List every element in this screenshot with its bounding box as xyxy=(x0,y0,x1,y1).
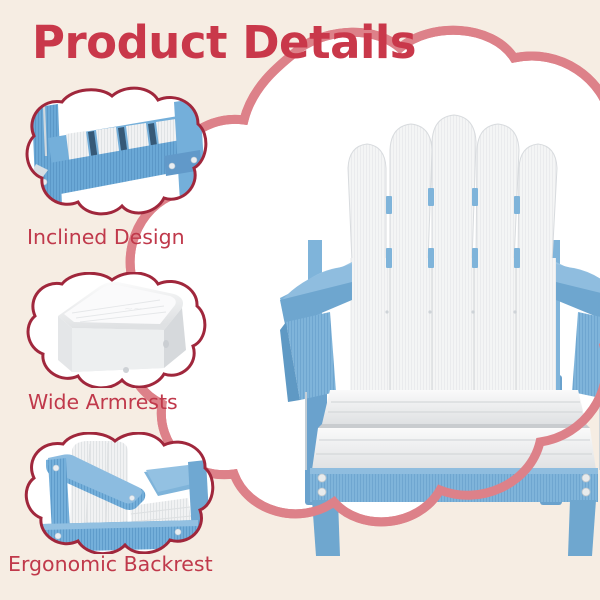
infographic-canvas: Product Details xyxy=(0,0,600,600)
feature-label-inclined-design: Inclined Design xyxy=(27,225,185,249)
feature-label-ergonomic-backrest: Ergonomic Backrest xyxy=(8,552,213,576)
page-title: Product Details xyxy=(32,16,416,69)
feature-image-ergonomic-backrest xyxy=(12,432,218,554)
feature-bubble-ergonomic-backrest xyxy=(12,432,218,554)
feature-bubble-wide-armrests: ~~ xyxy=(14,272,210,388)
feature-label-wide-armrests: Wide Armrests xyxy=(28,390,178,414)
feature-bubble-inclined-design xyxy=(14,86,210,220)
feature-image-wide-armrests: ~~ xyxy=(14,272,210,388)
svg-text:~~: ~~ xyxy=(124,302,142,315)
